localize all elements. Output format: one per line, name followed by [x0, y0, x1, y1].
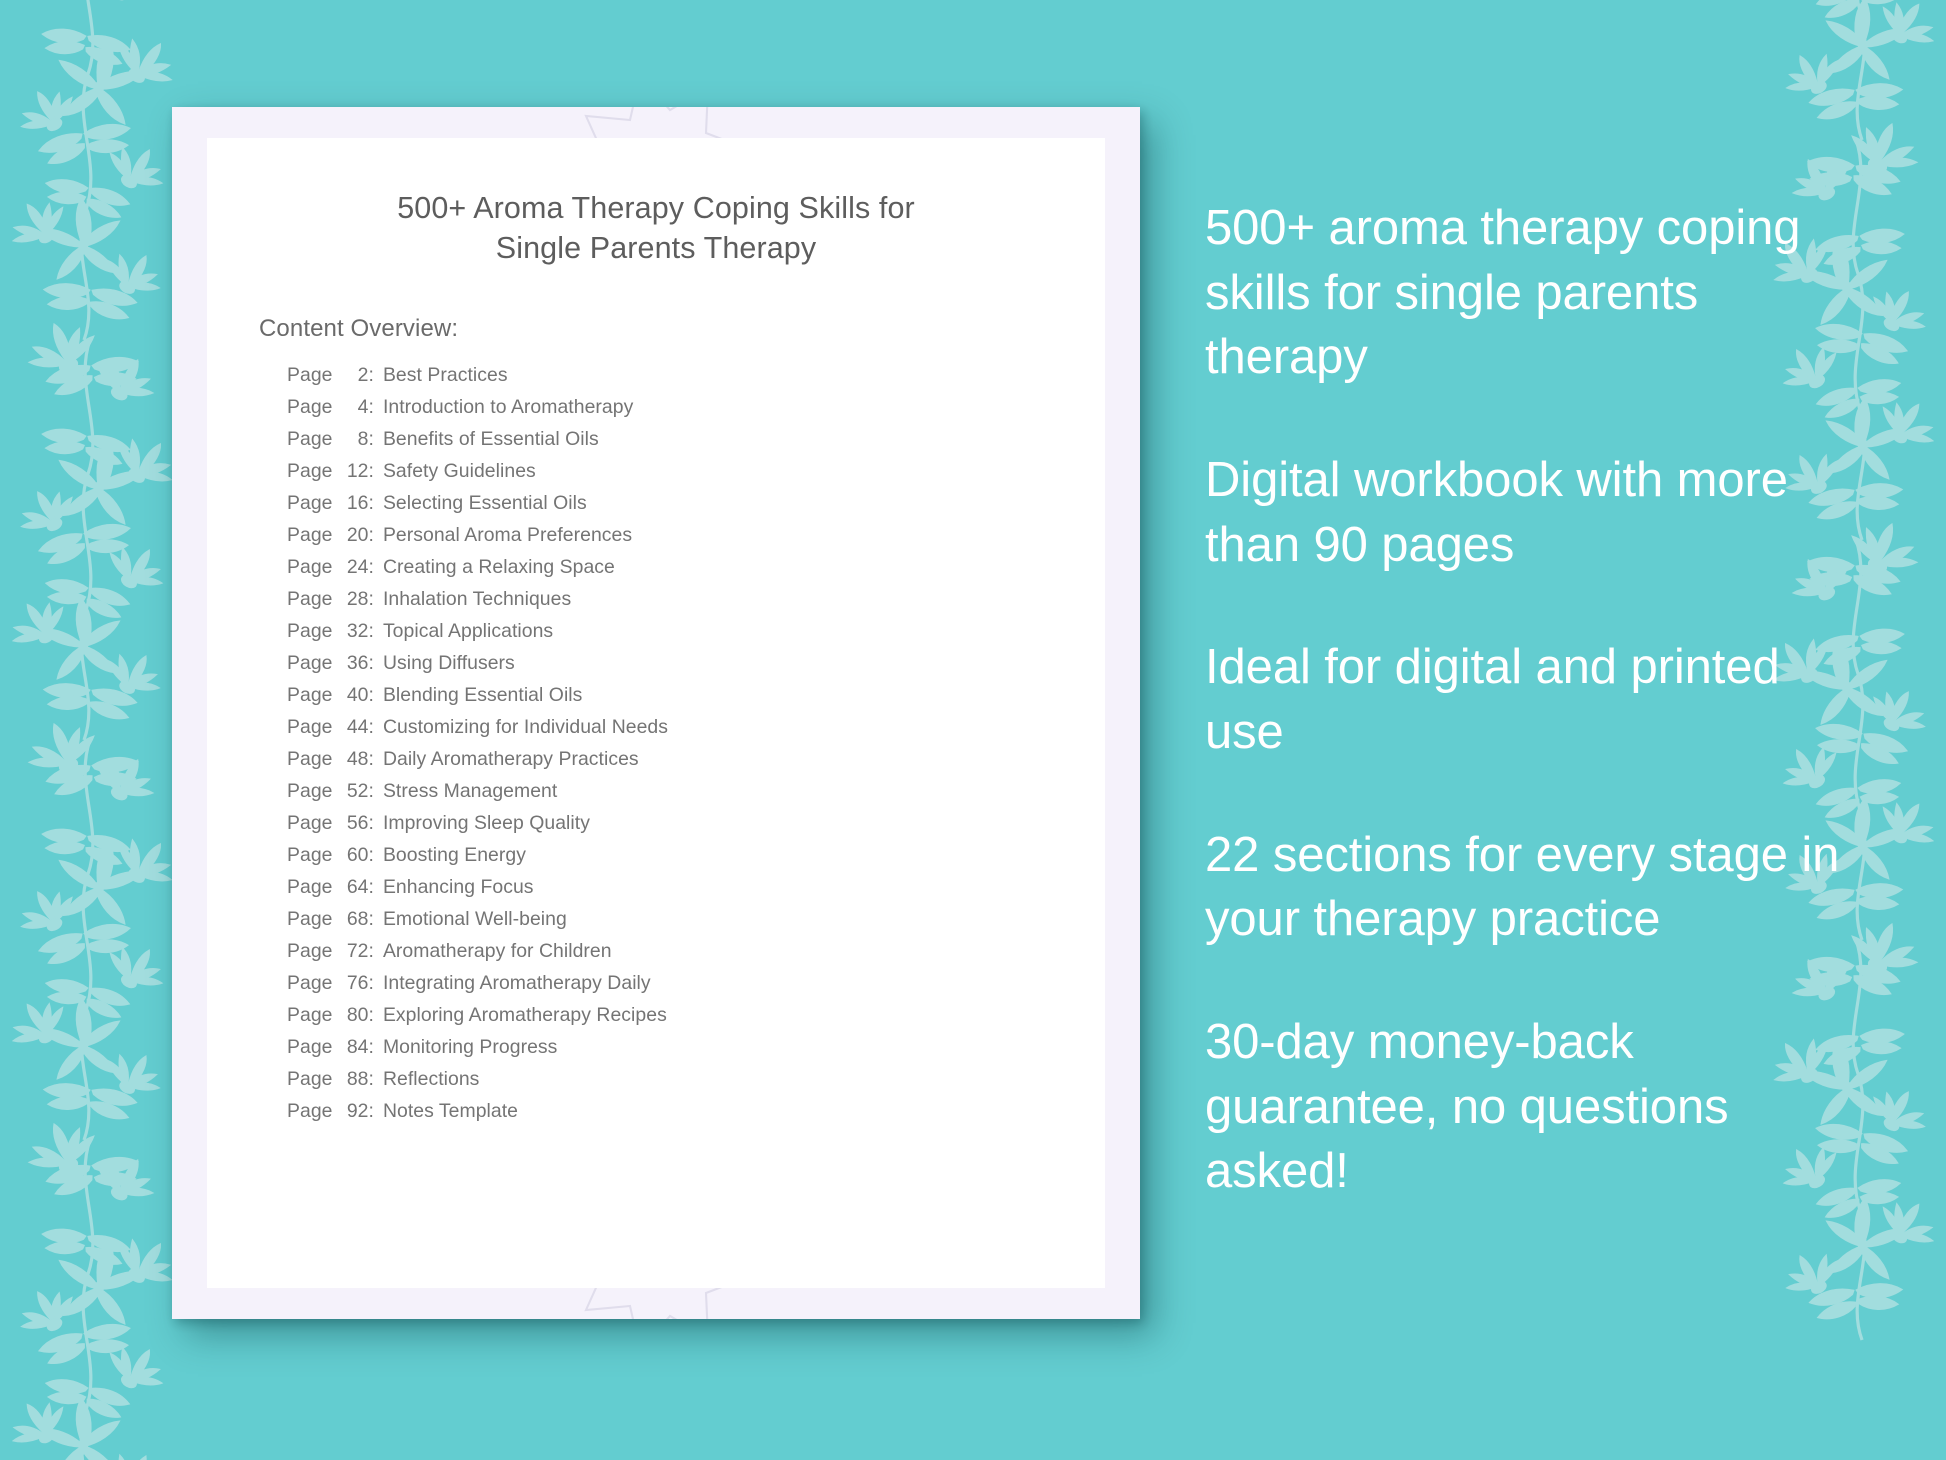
page-title-line-2: Single Parents Therapy	[496, 231, 816, 265]
toc-colon: :	[369, 558, 374, 577]
toc-page-word: Page	[287, 846, 333, 865]
toc-entry-title: Aromatherapy for Children	[383, 942, 612, 961]
toc-entry[interactable]: Page56:Improving Sleep Quality	[287, 814, 1105, 846]
toc-entry-title: Selecting Essential Oils	[383, 494, 587, 513]
toc-page-number: 20	[339, 526, 369, 545]
toc-page-word: Page	[287, 782, 333, 801]
toc-page-number: 36	[339, 654, 369, 673]
toc-entry[interactable]: Page16:Selecting Essential Oils	[287, 494, 1105, 526]
toc-entry-title: Exploring Aromatherapy Recipes	[383, 1006, 667, 1025]
toc-entry[interactable]: Page20:Personal Aroma Preferences	[287, 526, 1105, 558]
toc-entry-title: Emotional Well-being	[383, 910, 567, 929]
toc-colon: :	[369, 718, 374, 737]
toc-entry-title: Integrating Aromatherapy Daily	[383, 974, 651, 993]
toc-entry-title: Introduction to Aromatherapy	[383, 398, 633, 417]
toc-colon: :	[369, 750, 374, 769]
marketing-bullet: 22 sections for every stage in your ther…	[1205, 823, 1845, 952]
toc-page-number: 60	[339, 846, 369, 865]
toc-entry[interactable]: Page68:Emotional Well-being	[287, 910, 1105, 942]
page-title-line-1: 500+ Aroma Therapy Coping Skills for	[397, 191, 915, 225]
toc-page-number: 56	[339, 814, 369, 833]
toc-entry[interactable]: Page12:Safety Guidelines	[287, 462, 1105, 494]
toc-page-number: 64	[339, 878, 369, 897]
toc-colon: :	[369, 910, 374, 929]
toc-page-number: 16	[339, 494, 369, 513]
toc-entry[interactable]: Page92:Notes Template	[287, 1102, 1105, 1134]
toc-entry-title: Creating a Relaxing Space	[383, 558, 615, 577]
toc-colon: :	[369, 846, 374, 865]
toc-page-number: 68	[339, 910, 369, 929]
toc-colon: :	[369, 398, 374, 417]
toc-colon: :	[369, 430, 374, 449]
toc-colon: :	[369, 366, 374, 385]
toc-page-word: Page	[287, 558, 333, 577]
toc-entry-title: Boosting Energy	[383, 846, 526, 865]
toc-colon: :	[369, 814, 374, 833]
toc-entry-title: Safety Guidelines	[383, 462, 536, 481]
toc-entry-title: Monitoring Progress	[383, 1038, 557, 1057]
toc-page-word: Page	[287, 878, 333, 897]
toc-entry[interactable]: Page76:Integrating Aromatherapy Daily	[287, 974, 1105, 1006]
toc-page-word: Page	[287, 1070, 333, 1089]
marketing-bullet: Digital workbook with more than 90 pages	[1205, 448, 1845, 577]
toc-entry[interactable]: Page32:Topical Applications	[287, 622, 1105, 654]
poster-canvas: 500+ Aroma Therapy Coping Skills for Sin…	[0, 0, 1946, 1460]
toc-page-word: Page	[287, 430, 333, 449]
toc-entry[interactable]: Page36:Using Diffusers	[287, 654, 1105, 686]
toc-page-word: Page	[287, 942, 333, 961]
toc-page-word: Page	[287, 1038, 333, 1057]
toc-page-number: 12	[339, 462, 369, 481]
toc-entry-title: Benefits of Essential Oils	[383, 430, 599, 449]
toc-entry-title: Enhancing Focus	[383, 878, 534, 897]
toc-page-word: Page	[287, 622, 333, 641]
toc-colon: :	[369, 526, 374, 545]
toc-page-word: Page	[287, 814, 333, 833]
toc-entry[interactable]: Page64:Enhancing Focus	[287, 878, 1105, 910]
toc-page-word: Page	[287, 1006, 333, 1025]
toc-page-number: 28	[339, 590, 369, 609]
content-overview-label: Content Overview:	[207, 268, 1105, 343]
toc-entry[interactable]: Page60:Boosting Energy	[287, 846, 1105, 878]
toc-entry-title: Notes Template	[383, 1102, 518, 1121]
toc-page-number: 40	[339, 686, 369, 705]
toc-page-number: 92	[339, 1102, 369, 1121]
toc-page-number: 48	[339, 750, 369, 769]
toc-entry[interactable]: Page24:Creating a Relaxing Space	[287, 558, 1105, 590]
toc-page-number: 88	[339, 1070, 369, 1089]
toc-page-number: 84	[339, 1038, 369, 1057]
marketing-bullet: Ideal for digital and printed use	[1205, 635, 1845, 764]
toc-entry[interactable]: Page52:Stress Management	[287, 782, 1105, 814]
toc-entry[interactable]: Page80:Exploring Aromatherapy Recipes	[287, 1006, 1105, 1038]
toc-entry[interactable]: Page2:Best Practices	[287, 366, 1105, 398]
toc-entry[interactable]: Page40:Blending Essential Oils	[287, 686, 1105, 718]
toc-entry[interactable]: Page28:Inhalation Techniques	[287, 590, 1105, 622]
toc-colon: :	[369, 622, 374, 641]
toc-colon: :	[369, 974, 374, 993]
table-of-contents: Page2:Best PracticesPage4:Introduction t…	[207, 343, 1105, 1134]
toc-entry-title: Reflections	[383, 1070, 479, 1089]
toc-entry-title: Personal Aroma Preferences	[383, 526, 632, 545]
toc-entry-title: Using Diffusers	[383, 654, 515, 673]
toc-page-number: 72	[339, 942, 369, 961]
toc-page-word: Page	[287, 750, 333, 769]
toc-colon: :	[369, 462, 374, 481]
toc-entry-title: Inhalation Techniques	[383, 590, 571, 609]
toc-page-word: Page	[287, 462, 333, 481]
toc-page-number: 32	[339, 622, 369, 641]
toc-page-word: Page	[287, 718, 333, 737]
toc-colon: :	[369, 1006, 374, 1025]
toc-page-word: Page	[287, 590, 333, 609]
toc-entry-title: Stress Management	[383, 782, 557, 801]
toc-page-word: Page	[287, 974, 333, 993]
toc-entry[interactable]: Page84:Monitoring Progress	[287, 1038, 1105, 1070]
toc-colon: :	[369, 1070, 374, 1089]
marketing-bullet: 30-day money-back guarantee, no question…	[1205, 1010, 1845, 1204]
toc-page-word: Page	[287, 494, 333, 513]
toc-entry-title: Blending Essential Oils	[383, 686, 582, 705]
toc-page-word: Page	[287, 366, 333, 385]
toc-colon: :	[369, 494, 374, 513]
toc-colon: :	[369, 878, 374, 897]
toc-page-word: Page	[287, 526, 333, 545]
toc-entry-title: Best Practices	[383, 366, 508, 385]
toc-entry[interactable]: Page72:Aromatherapy for Children	[287, 942, 1105, 974]
toc-colon: :	[369, 654, 374, 673]
document-page: 500+ Aroma Therapy Coping Skills for Sin…	[207, 138, 1105, 1288]
toc-entry-title: Daily Aromatherapy Practices	[383, 750, 639, 769]
toc-page-number: 4	[339, 398, 369, 417]
toc-page-number: 8	[339, 430, 369, 449]
toc-entry[interactable]: Page48:Daily Aromatherapy Practices	[287, 750, 1105, 782]
toc-colon: :	[369, 942, 374, 961]
toc-colon: :	[369, 1038, 374, 1057]
marketing-bullet: 500+ aroma therapy coping skills for sin…	[1205, 196, 1845, 390]
toc-page-word: Page	[287, 910, 333, 929]
toc-page-number: 52	[339, 782, 369, 801]
toc-page-number: 24	[339, 558, 369, 577]
toc-page-number: 80	[339, 1006, 369, 1025]
toc-page-word: Page	[287, 654, 333, 673]
toc-page-number: 2	[339, 366, 369, 385]
toc-page-word: Page	[287, 686, 333, 705]
toc-entry[interactable]: Page4:Introduction to Aromatherapy	[287, 398, 1105, 430]
page-title: 500+ Aroma Therapy Coping Skills for Sin…	[207, 138, 1105, 268]
marketing-copy-list: 500+ aroma therapy coping skills for sin…	[1205, 196, 1845, 1204]
toc-page-number: 44	[339, 718, 369, 737]
toc-entry-title: Customizing for Individual Needs	[383, 718, 668, 737]
toc-colon: :	[369, 782, 374, 801]
toc-colon: :	[369, 1102, 374, 1121]
toc-entry[interactable]: Page88:Reflections	[287, 1070, 1105, 1102]
document-card[interactable]: 500+ Aroma Therapy Coping Skills for Sin…	[172, 107, 1140, 1319]
toc-entry[interactable]: Page44:Customizing for Individual Needs	[287, 718, 1105, 750]
toc-page-number: 76	[339, 974, 369, 993]
toc-entry-title: Improving Sleep Quality	[383, 814, 590, 833]
toc-page-word: Page	[287, 1102, 333, 1121]
toc-page-word: Page	[287, 398, 333, 417]
toc-entry[interactable]: Page8:Benefits of Essential Oils	[287, 430, 1105, 462]
toc-colon: :	[369, 590, 374, 609]
toc-colon: :	[369, 686, 374, 705]
toc-entry-title: Topical Applications	[383, 622, 553, 641]
